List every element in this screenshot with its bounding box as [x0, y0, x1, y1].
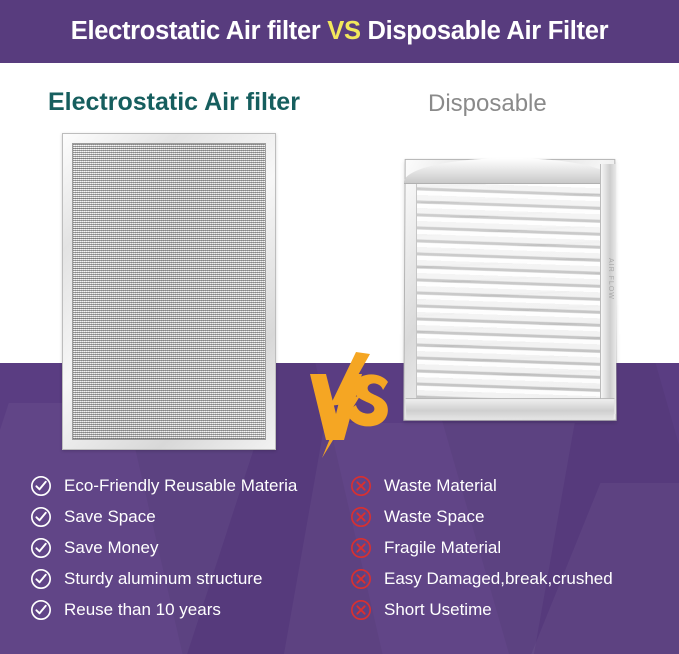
list-item-label: Eco-Friendly Reusable Materia — [64, 477, 297, 494]
check-circle-icon — [30, 599, 52, 621]
list-item: Save Space — [30, 501, 350, 532]
vs-badge — [300, 352, 396, 458]
x-circle-icon — [350, 506, 372, 528]
x-circle-icon — [350, 537, 372, 559]
list-item-label: Fragile Material — [384, 539, 501, 556]
list-item-label: Reuse than 10 years — [64, 601, 221, 618]
electrostatic-filter-image — [62, 133, 276, 450]
pros-list: Eco-Friendly Reusable Materia Save Space… — [30, 470, 350, 625]
electrostatic-filter-mesh — [72, 143, 266, 440]
header-band: Electrostatic Air filter VS Disposable A… — [0, 0, 679, 63]
check-circle-icon — [30, 568, 52, 590]
list-item: Waste Space — [350, 501, 670, 532]
x-circle-icon — [350, 599, 372, 621]
list-item-label: Short Usetime — [384, 601, 492, 618]
x-circle-icon — [350, 568, 372, 590]
infographic-root: Electrostatic Air filter VS Disposable A… — [0, 0, 679, 654]
list-item: Reuse than 10 years — [30, 594, 350, 625]
disposable-filter-side-text: AIR FLOW — [607, 258, 614, 300]
check-circle-icon — [30, 475, 52, 497]
list-item: Easy Damaged,break,crushed — [350, 563, 670, 594]
list-item: Eco-Friendly Reusable Materia — [30, 470, 350, 501]
disposable-filter-image: AIR FLOW — [404, 158, 616, 420]
page-title: Electrostatic Air filter VS Disposable A… — [71, 17, 609, 46]
list-item: Sturdy aluminum structure — [30, 563, 350, 594]
list-item: Waste Material — [350, 470, 670, 501]
list-item: Fragile Material — [350, 532, 670, 563]
list-item-label: Save Space — [64, 508, 156, 525]
page-title-part-2: Disposable Air Filter — [361, 17, 609, 45]
list-item: Short Usetime — [350, 594, 670, 625]
right-column-subtitle: Disposable — [428, 90, 547, 118]
check-circle-icon — [30, 537, 52, 559]
list-item-label: Easy Damaged,break,crushed — [384, 570, 613, 587]
cons-list: Waste Material Waste Space Fragile Mater… — [350, 470, 670, 625]
list-item: Save Money — [30, 532, 350, 563]
list-item-label: Waste Material — [384, 477, 497, 494]
disposable-filter-media — [416, 180, 604, 404]
list-item-label: Waste Space — [384, 508, 484, 525]
list-item-label: Save Money — [64, 539, 159, 556]
left-column-subtitle: Electrostatic Air filter — [48, 88, 300, 117]
disposable-filter-bottom-edge — [406, 398, 615, 420]
list-item-label: Sturdy aluminum structure — [64, 570, 262, 587]
page-title-vs: VS — [327, 17, 360, 45]
page-title-part-1: Electrostatic Air filter — [71, 17, 328, 45]
check-circle-icon — [30, 506, 52, 528]
x-circle-icon — [350, 475, 372, 497]
